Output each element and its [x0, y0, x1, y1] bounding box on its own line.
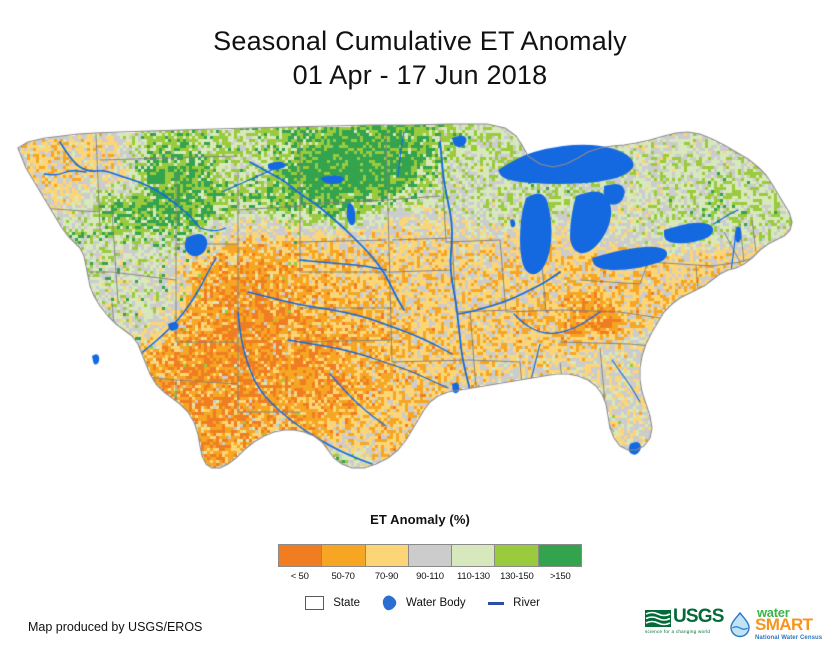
legend-label-6: >150 — [539, 569, 582, 585]
legend-title: ET Anomaly (%) — [0, 512, 840, 527]
river-icon — [488, 602, 505, 605]
title-line-1: Seasonal Cumulative ET Anomaly — [0, 24, 840, 58]
state-legend-label: State — [333, 597, 360, 609]
legend-label-4: 110-130 — [452, 569, 495, 585]
et-anomaly-raster-map — [0, 112, 840, 502]
watersmart-logo: water SMART National Water Census — [727, 604, 835, 644]
legend-swatch-1 — [322, 545, 365, 566]
legend-swatch-0 — [279, 545, 322, 566]
legend-label-3: 90-110 — [408, 569, 451, 585]
watersmart-smart-text: SMART — [755, 616, 812, 634]
legend-color-ramp — [278, 544, 582, 567]
usgs-logo: USGS science for a changing world — [645, 608, 737, 640]
title-line-2: 01 Apr - 17 Jun 2018 — [0, 58, 840, 92]
legend-label-1: 50-70 — [321, 569, 364, 585]
usgs-tagline: science for a changing world — [645, 629, 710, 634]
watersmart-subtitle: National Water Census — [755, 635, 822, 641]
legend-label-0: < 50 — [278, 569, 321, 585]
legend-swatch-5 — [495, 545, 538, 566]
usgs-wordmark: USGS — [673, 606, 724, 628]
legend: ET Anomaly (%) < 5050-7070-9090-110110-1… — [0, 512, 840, 527]
legend-swatch-4 — [452, 545, 495, 566]
map-credit: Map produced by USGS/EROS — [28, 620, 202, 634]
water-body-legend-label: Water Body — [406, 597, 466, 609]
legend-class-labels: < 5050-7070-9090-110110-130130-150>150 — [278, 569, 582, 585]
water-droplet-icon — [727, 612, 753, 638]
map-figure — [0, 112, 840, 502]
legend-swatch-2 — [366, 545, 409, 566]
water-body-icon — [382, 595, 397, 611]
legend-swatch-6 — [539, 545, 581, 566]
legend-label-2: 70-90 — [365, 569, 408, 585]
page-title: Seasonal Cumulative ET Anomaly 01 Apr - … — [0, 24, 840, 92]
river-legend-label: River — [513, 597, 540, 609]
usgs-wave-icon — [645, 610, 671, 627]
map-page: Seasonal Cumulative ET Anomaly 01 Apr - … — [0, 0, 840, 660]
legend-swatch-3 — [409, 545, 452, 566]
logo-group: USGS science for a changing world water … — [645, 604, 835, 646]
legend-label-5: 130-150 — [495, 569, 538, 585]
state-boundary-icon — [305, 596, 324, 610]
